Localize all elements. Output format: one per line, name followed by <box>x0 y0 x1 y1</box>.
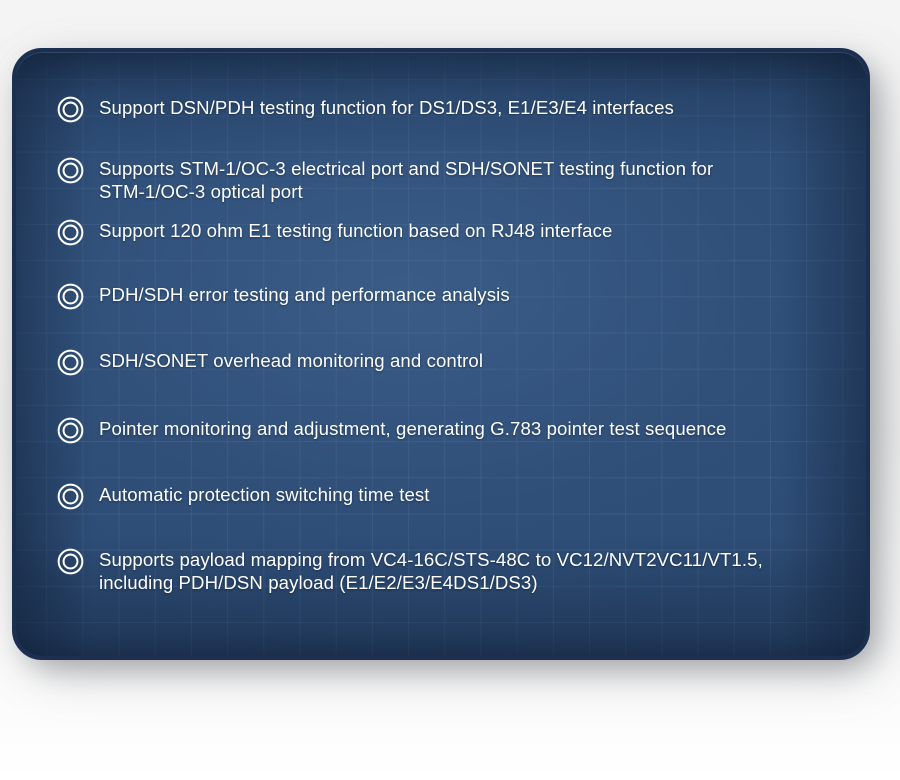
list-item-label: Supports STM-1/OC-3 electrical port and … <box>99 157 713 203</box>
concentric-rings-icon <box>57 157 84 184</box>
list-item: SDH/SONET overhead monitoring and contro… <box>57 349 840 376</box>
list-item: Automatic protection switching time test <box>57 483 840 510</box>
concentric-rings-icon <box>57 96 84 123</box>
features-card: Support DSN/PDH testing function for DS1… <box>12 48 870 660</box>
concentric-rings-icon <box>57 283 84 310</box>
list-item: Support DSN/PDH testing function for DS1… <box>57 96 840 123</box>
list-item: Pointer monitoring and adjustment, gener… <box>57 417 840 444</box>
concentric-rings-icon <box>57 548 84 575</box>
page-root: Support DSN/PDH testing function for DS1… <box>0 0 900 780</box>
concentric-rings-icon <box>57 417 84 444</box>
list-item-label: Support 120 ohm E1 testing function base… <box>99 219 612 243</box>
concentric-rings-icon <box>57 483 84 510</box>
list-item: Supports STM-1/OC-3 electrical port and … <box>57 157 840 203</box>
list-item-label: Pointer monitoring and adjustment, gener… <box>99 417 727 441</box>
list-item-label: Automatic protection switching time test <box>99 483 430 507</box>
list-item: Support 120 ohm E1 testing function base… <box>57 219 840 246</box>
list-item-label: Support DSN/PDH testing function for DS1… <box>99 96 674 120</box>
list-item-label: PDH/SDH error testing and performance an… <box>99 283 510 307</box>
feature-list: Support DSN/PDH testing function for DS1… <box>57 96 840 656</box>
list-item: Supports payload mapping from VC4-16C/ST… <box>57 548 840 594</box>
concentric-rings-icon <box>57 349 84 376</box>
list-item: PDH/SDH error testing and performance an… <box>57 283 840 310</box>
list-item-label: SDH/SONET overhead monitoring and contro… <box>99 349 483 373</box>
concentric-rings-icon <box>57 219 84 246</box>
list-item-label: Supports payload mapping from VC4-16C/ST… <box>99 548 763 594</box>
